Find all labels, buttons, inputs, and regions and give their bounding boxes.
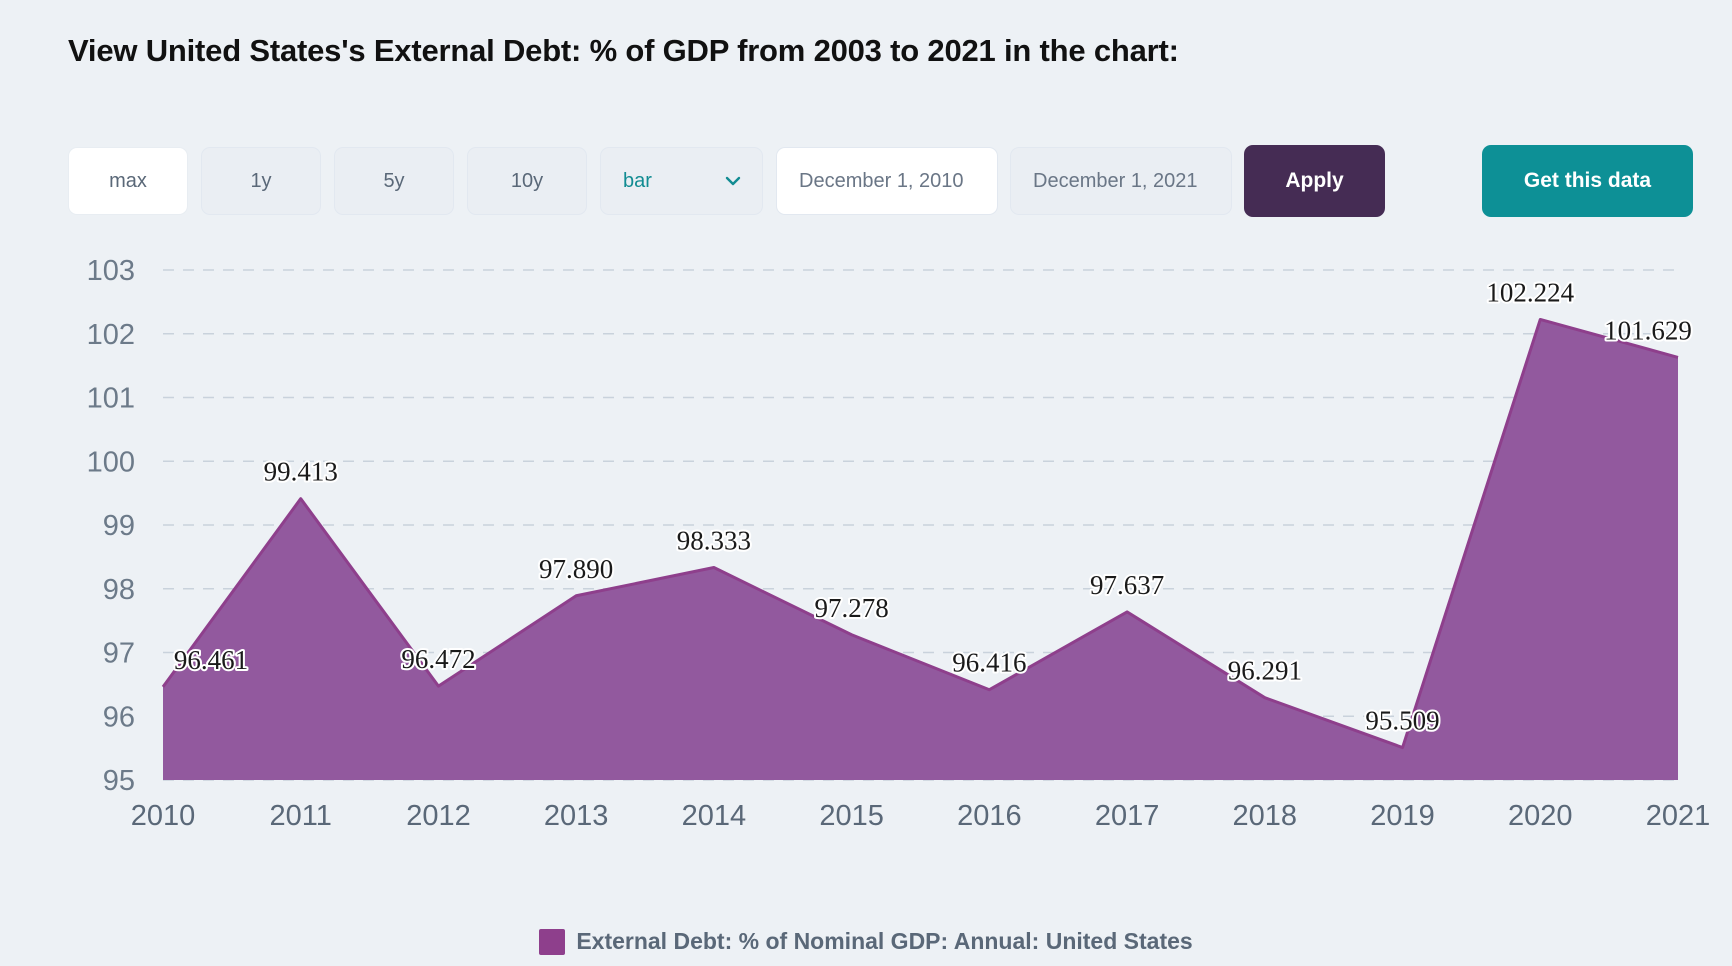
x-axis-tick-label: 2018 — [1233, 800, 1298, 832]
x-axis-tick-label: 2019 — [1370, 800, 1435, 832]
external-debt-area-chart[interactable]: 9596979899100101102103 20102011201220132… — [0, 250, 1732, 910]
data-point-label: 101.629 — [1604, 315, 1692, 345]
start-date-value: December 1, 2010 — [777, 170, 964, 193]
apply-button[interactable]: Apply — [1244, 145, 1385, 217]
data-point-label: 99.413 — [264, 457, 338, 487]
data-point-label: 97.637 — [1090, 570, 1164, 600]
y-axis-tick-label: 95 — [103, 765, 135, 797]
chevron-down-icon — [724, 172, 742, 190]
series-area-fill — [163, 319, 1678, 780]
y-axis-tick-label: 97 — [103, 638, 135, 670]
start-date-input[interactable]: December 1, 2010 — [776, 147, 998, 215]
y-axis-tick-label: 96 — [103, 701, 135, 733]
data-point-label: 98.333 — [677, 526, 751, 556]
data-point-label: 97.278 — [815, 593, 889, 623]
end-date-input[interactable]: December 1, 2021 — [1010, 147, 1232, 215]
y-axis-tick-label: 103 — [87, 255, 135, 287]
range-button-1y[interactable]: 1y — [201, 147, 321, 215]
data-point-label: 96.472 — [401, 644, 475, 674]
x-axis-tick-label: 2011 — [270, 800, 332, 832]
data-point-label: 102.224 — [1486, 277, 1574, 307]
range-button-5y[interactable]: 5y — [334, 147, 454, 215]
x-axis-tick-label: 2017 — [1095, 800, 1160, 832]
get-this-data-button[interactable]: Get this data — [1482, 145, 1693, 217]
x-axis-tick-label: 2013 — [544, 800, 609, 832]
y-axis-tick-label: 99 — [103, 510, 135, 542]
x-axis-tick-label: 2015 — [819, 800, 884, 832]
data-point-label: 96.291 — [1228, 656, 1302, 686]
chart-type-value: bar — [601, 170, 652, 193]
data-point-label: 96.416 — [952, 648, 1026, 678]
x-axis-tick-label: 2016 — [957, 800, 1022, 832]
end-date-value: December 1, 2021 — [1011, 170, 1198, 193]
chart-legend: External Debt: % of Nominal GDP: Annual:… — [0, 928, 1732, 955]
x-axis-tick-label: 2014 — [682, 800, 747, 832]
x-axis-tick-label: 2012 — [406, 800, 471, 832]
chart-y-axis-labels: 9596979899100101102103 — [87, 255, 135, 797]
data-point-label: 97.890 — [539, 554, 613, 584]
range-button-10y[interactable]: 10y — [467, 147, 587, 215]
x-axis-tick-label: 2021 — [1646, 800, 1711, 832]
chart-area: 9596979899100101102103 20102011201220132… — [0, 250, 1732, 910]
x-axis-tick-label: 2020 — [1508, 800, 1573, 832]
y-axis-tick-label: 101 — [87, 383, 135, 415]
range-button-max[interactable]: max — [68, 147, 188, 215]
chart-toolbar: max 1y 5y 10y bar December 1, 2010 Decem… — [68, 145, 1385, 217]
data-point-label: 95.509 — [1365, 706, 1439, 736]
chart-x-axis-labels: 2010201120122013201420152016201720182019… — [131, 800, 1711, 832]
x-axis-tick-label: 2010 — [131, 800, 196, 832]
y-axis-tick-label: 98 — [103, 574, 135, 606]
data-point-label: 96.461 — [174, 645, 248, 675]
legend-series-label: External Debt: % of Nominal GDP: Annual:… — [576, 928, 1192, 955]
legend-color-swatch — [539, 929, 565, 955]
chart-type-select[interactable]: bar — [600, 147, 763, 215]
y-axis-tick-label: 102 — [87, 319, 135, 351]
page-title: View United States's External Debt: % of… — [68, 33, 1179, 69]
y-axis-tick-label: 100 — [87, 446, 135, 478]
